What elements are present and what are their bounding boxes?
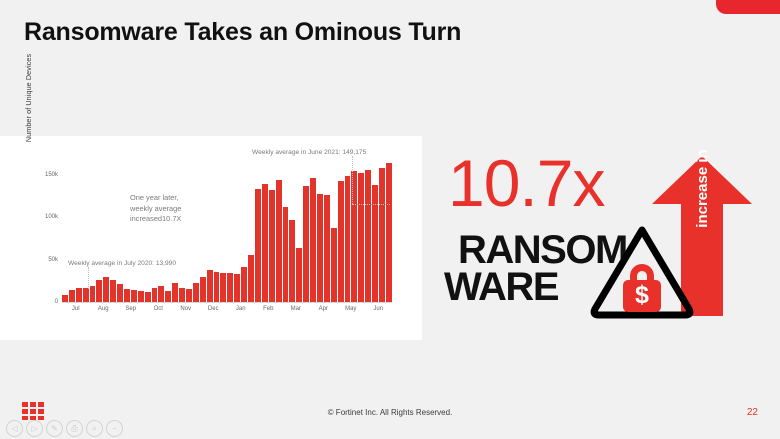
bar bbox=[331, 228, 337, 302]
bar bbox=[152, 288, 158, 302]
bar bbox=[76, 288, 82, 302]
annotation-start-leader bbox=[88, 267, 89, 289]
bar bbox=[138, 291, 144, 302]
bar bbox=[379, 168, 385, 302]
bar bbox=[193, 283, 199, 302]
page-number: 22 bbox=[747, 407, 758, 418]
x-axis-tick-label: Mar bbox=[282, 306, 310, 312]
x-axis-tick-label: Jan bbox=[227, 306, 255, 312]
x-axis-tick-label: May bbox=[337, 306, 365, 312]
bar bbox=[269, 190, 275, 302]
back-icon[interactable]: ◁ bbox=[6, 420, 23, 437]
bar bbox=[324, 195, 330, 302]
bar bbox=[90, 286, 96, 302]
bar bbox=[103, 277, 109, 302]
bar bbox=[186, 289, 192, 302]
x-axis-tick-label: Aug bbox=[90, 306, 118, 312]
page-title: Ransomware Takes an Ominous Turn bbox=[24, 18, 461, 47]
x-axis-tick-label: Sep bbox=[117, 306, 145, 312]
y-axis-tick-label: 0 bbox=[55, 299, 58, 305]
x-axis-tick-label: Nov bbox=[172, 306, 200, 312]
bar bbox=[220, 273, 226, 302]
x-axis-ticks: JulAugSepOctNovDecJanFebMarAprMayJun bbox=[62, 306, 392, 312]
x-axis-tick-label: Jun bbox=[365, 306, 393, 312]
bar bbox=[386, 163, 392, 302]
chart-figure: Number of Unique Devices 050k100k150k Ju… bbox=[0, 136, 422, 340]
bar bbox=[227, 273, 233, 302]
x-axis-line bbox=[62, 302, 392, 303]
x-axis-tick-label: Apr bbox=[310, 306, 338, 312]
annotation-growth-l1: One year later, bbox=[130, 193, 181, 204]
annotation-end-avg: Weekly average in June 2021: 149,175 bbox=[252, 148, 366, 158]
bar bbox=[283, 207, 289, 302]
bar-series bbox=[62, 154, 392, 302]
bar bbox=[338, 181, 344, 302]
annotation-end-leader bbox=[352, 156, 353, 204]
print-icon[interactable]: ⎙ bbox=[66, 420, 83, 437]
bar bbox=[372, 185, 378, 302]
minus-icon[interactable]: − bbox=[106, 420, 123, 437]
bar bbox=[200, 277, 206, 302]
y-axis-tick-label: 150k bbox=[45, 172, 58, 178]
bar bbox=[117, 284, 123, 302]
bar bbox=[69, 290, 75, 302]
chart-panel: Number of Unique Devices 050k100k150k Ju… bbox=[0, 136, 422, 340]
annotation-end-hline bbox=[352, 204, 390, 205]
bar bbox=[62, 295, 68, 302]
x-axis-tick-label: Dec bbox=[200, 306, 228, 312]
bar bbox=[83, 288, 89, 302]
bar bbox=[289, 220, 295, 302]
chart-plot-area: 050k100k150k bbox=[62, 154, 392, 302]
slide-root: Ransomware Takes an Ominous Turn Number … bbox=[0, 0, 780, 439]
top-accent-tab bbox=[716, 0, 780, 14]
bar bbox=[365, 170, 371, 302]
ransomware-graphic: 10.7x RANSOM WARE increase in $ bbox=[440, 148, 780, 400]
y-axis-tick-label: 50k bbox=[48, 257, 58, 263]
bar bbox=[234, 274, 240, 302]
bar bbox=[110, 280, 116, 302]
bar bbox=[179, 288, 185, 302]
bar bbox=[303, 186, 309, 302]
bar bbox=[248, 255, 254, 302]
bar bbox=[172, 283, 178, 302]
x-axis-tick-label: Jul bbox=[62, 306, 90, 312]
bar bbox=[145, 292, 151, 302]
multiplier-text: 10.7x bbox=[448, 150, 604, 216]
annotation-growth-l2: weekly average bbox=[130, 204, 181, 215]
y-axis-tick-label: 100k bbox=[45, 214, 58, 220]
bar bbox=[207, 270, 213, 302]
bar bbox=[158, 286, 164, 302]
ransom-word-line2: WARE bbox=[444, 267, 558, 307]
bar bbox=[241, 267, 247, 302]
copyright-text: © Fortinet Inc. All Rights Reserved. bbox=[0, 408, 780, 417]
annotation-growth: One year later, weekly average increased… bbox=[130, 193, 181, 225]
svg-text:$: $ bbox=[635, 281, 649, 309]
bar bbox=[165, 291, 171, 302]
x-axis-tick-label: Feb bbox=[255, 306, 283, 312]
fortinet-logo bbox=[22, 401, 44, 421]
bar bbox=[310, 178, 316, 302]
bar bbox=[124, 289, 130, 302]
annotation-start-avg: Weekly average in July 2020: 13,990 bbox=[68, 259, 176, 269]
y-axis-title: Number of Unique Devices bbox=[24, 32, 33, 164]
bar bbox=[276, 180, 282, 302]
play-icon[interactable]: ▷ bbox=[26, 420, 43, 437]
viewer-controls[interactable]: ◁▷✎⎙⌕− bbox=[6, 420, 123, 437]
warning-triangle-padlock-icon: $ bbox=[590, 223, 694, 319]
bar bbox=[317, 194, 323, 302]
bar bbox=[255, 189, 261, 302]
bar bbox=[345, 176, 351, 302]
bar bbox=[96, 280, 102, 302]
bar bbox=[131, 290, 137, 302]
bar bbox=[358, 173, 364, 302]
bar bbox=[214, 272, 220, 302]
bar bbox=[262, 184, 268, 302]
annotation-growth-l3: increased10.7X bbox=[130, 214, 181, 225]
bar bbox=[296, 248, 302, 302]
pen-icon[interactable]: ✎ bbox=[46, 420, 63, 437]
x-axis-tick-label: Oct bbox=[145, 306, 173, 312]
search-icon[interactable]: ⌕ bbox=[86, 420, 103, 437]
